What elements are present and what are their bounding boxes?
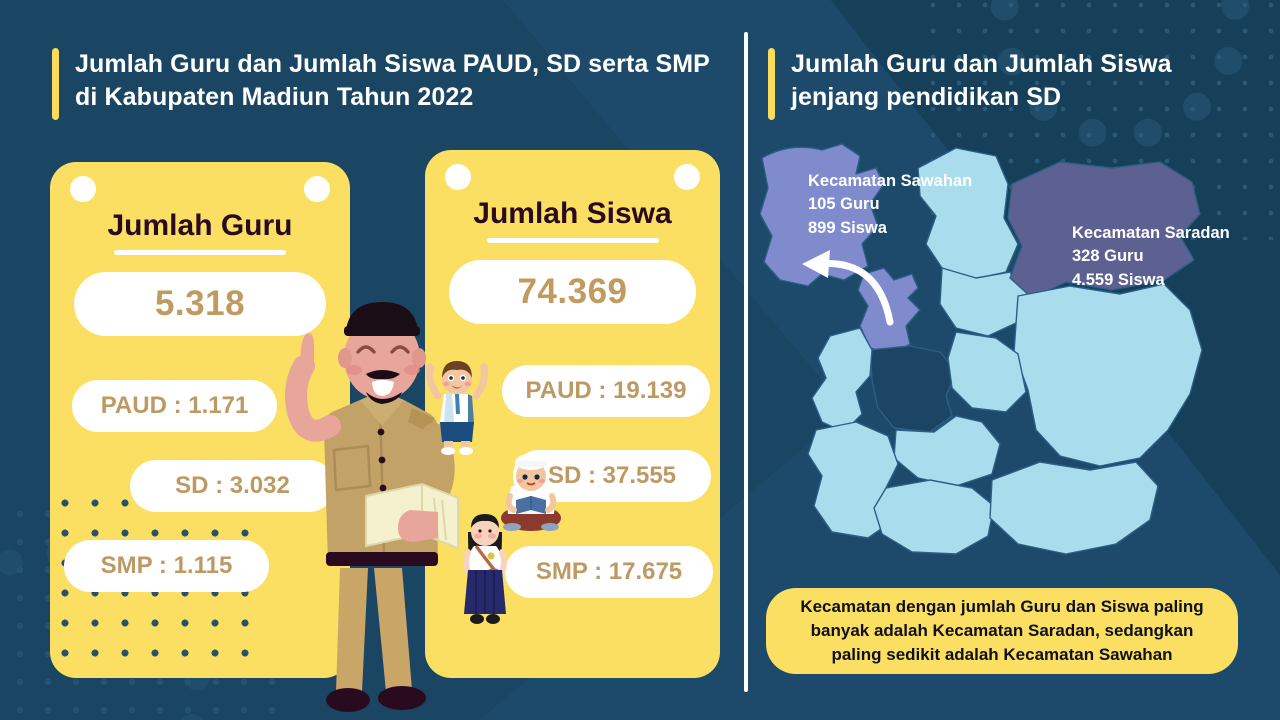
card-heading-guru: Jumlah Guru bbox=[50, 209, 350, 243]
map-caption: Kecamatan dengan jumlah Guru dan Siswa p… bbox=[766, 588, 1238, 674]
saradan-students: 4.559 Siswa bbox=[1072, 269, 1230, 292]
student-boy-illustration bbox=[424, 356, 490, 456]
right-panel-title: Jumlah Guru dan Jumlah Siswa jenjang pen… bbox=[768, 48, 1238, 120]
guru-smp-value: SMP : 1.115 bbox=[64, 540, 269, 592]
right-panel-title-text: Jumlah Guru dan Jumlah Siswa jenjang pen… bbox=[791, 48, 1238, 114]
map-annotation-saradan: Kecamatan Saradan 328 Guru 4.559 Siswa bbox=[1072, 222, 1230, 292]
siswa-smp-value: SMP : 17.675 bbox=[505, 546, 713, 598]
map-region-south-east bbox=[990, 462, 1158, 554]
sawahan-teachers: 105 Guru bbox=[808, 193, 972, 216]
student-girl-illustration bbox=[454, 508, 516, 630]
map-region-nw bbox=[812, 328, 872, 432]
siswa-paud-value: PAUD : 19.139 bbox=[502, 365, 710, 417]
map-annotation-sawahan: Kecamatan Sawahan 105 Guru 899 Siswa bbox=[808, 170, 972, 240]
card-punch-hole-right bbox=[304, 176, 330, 202]
card-punch-hole-right bbox=[674, 164, 700, 190]
map-region-south-central bbox=[874, 480, 994, 554]
saradan-name: Kecamatan Saradan bbox=[1072, 222, 1230, 245]
panel-divider bbox=[744, 32, 748, 692]
map-region-dark-central bbox=[870, 346, 956, 432]
sawahan-students: 899 Siswa bbox=[808, 217, 972, 240]
card-heading-siswa: Jumlah Siswa bbox=[425, 197, 720, 231]
map-region-east bbox=[1014, 284, 1202, 466]
card-punch-hole-left bbox=[445, 164, 471, 190]
guru-paud-value: PAUD : 1.171 bbox=[72, 380, 277, 432]
left-panel-title-text: Jumlah Guru dan Jumlah Siswa PAUD, SD se… bbox=[75, 48, 712, 114]
saradan-teachers: 328 Guru bbox=[1072, 245, 1230, 268]
sawahan-name: Kecamatan Sawahan bbox=[808, 170, 972, 193]
title-accent-bar bbox=[52, 48, 59, 120]
title-accent-bar bbox=[768, 48, 775, 120]
left-panel-title: Jumlah Guru dan Jumlah Siswa PAUD, SD se… bbox=[52, 48, 712, 120]
card-punch-hole-left bbox=[70, 176, 96, 202]
card-divider-rule bbox=[114, 250, 286, 255]
card-divider-rule bbox=[487, 238, 659, 243]
